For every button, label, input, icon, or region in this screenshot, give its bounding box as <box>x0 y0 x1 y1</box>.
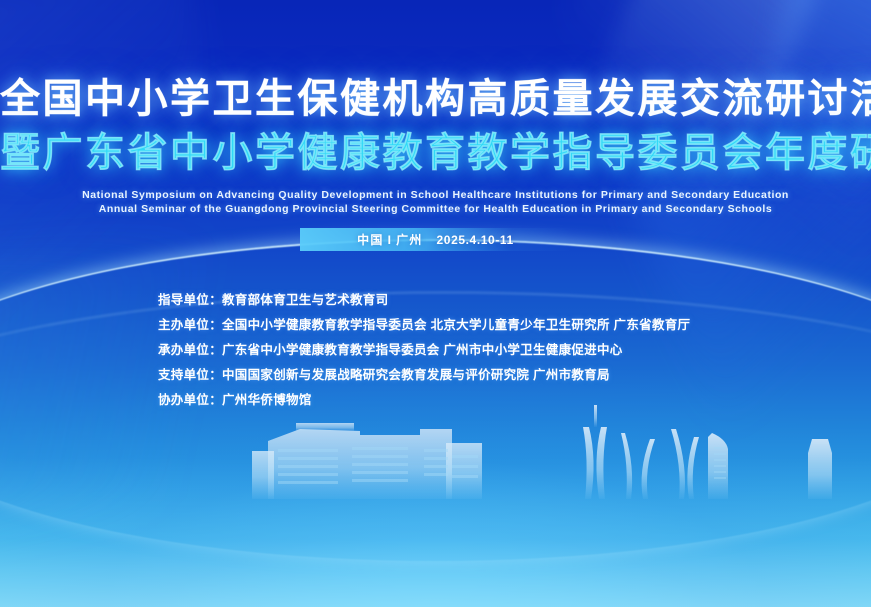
city-skyline-illustration <box>0 399 871 529</box>
badge-date: 2025.4.10-11 <box>423 233 514 247</box>
english-subtitle-line-1: National Symposium on Advancing Quality … <box>0 188 871 202</box>
twin-spire-tower-icon <box>621 429 699 499</box>
school-building-icon <box>252 423 482 499</box>
badge-bar: 中国I广州2025.4.10-11 <box>300 228 572 251</box>
english-subtitle-line-2: Annual Seminar of the Guangdong Provinci… <box>0 202 871 216</box>
badge-city: 广州 <box>396 233 422 247</box>
badge-text: 中国I广州2025.4.10-11 <box>357 231 514 248</box>
canton-tower-icon <box>583 405 607 499</box>
badge-country: 中国 <box>357 233 383 247</box>
event-meta-badge: 中国I广州2025.4.10-11 <box>0 228 871 251</box>
guangzhou-ifc-tower-icon <box>708 433 728 499</box>
ifc-windows-icon <box>714 447 726 479</box>
school-windows-icon <box>278 447 478 484</box>
list-item: 承办单位：广东省中小学健康教育教学指导委员会 广州市中小学卫生健康促进中心 <box>158 338 690 363</box>
list-item: 主办单位：全国中小学健康教育教学指导委员会 北京大学儿童青少年卫生研究所 广东省… <box>158 313 690 338</box>
skyline-svg <box>0 399 871 529</box>
list-item: 协办单位：广州华侨博物馆 <box>158 388 690 413</box>
english-subtitle-block: National Symposium on Advancing Quality … <box>0 188 871 216</box>
organization-list: 指导单位：教育部体育卫生与艺术教育司 主办单位：全国中小学健康教育教学指导委员会… <box>158 288 690 413</box>
list-item: 支持单位：中国国家创新与发展战略研究会教育发展与评价研究院 广州市教育局 <box>158 363 690 388</box>
badge-separator: I <box>384 233 397 247</box>
page-title: 全国中小学卫生保健机构高质量发展交流研讨活动 <box>0 74 871 124</box>
bottom-glow-haze <box>0 457 871 607</box>
poster-title-block: 全国中小学卫生保健机构高质量发展交流研讨活动 暨广东省中小学健康教育教学指导委员… <box>0 74 871 216</box>
ctf-finance-centre-icon <box>808 439 832 499</box>
conference-poster: 全国中小学卫生保健机构高质量发展交流研讨活动 暨广东省中小学健康教育教学指导委员… <box>0 0 871 607</box>
page-subtitle-cn: 暨广东省中小学健康教育教学指导委员会年度研讨活动 <box>0 128 871 178</box>
list-item: 指导单位：教育部体育卫生与艺术教育司 <box>158 288 690 313</box>
